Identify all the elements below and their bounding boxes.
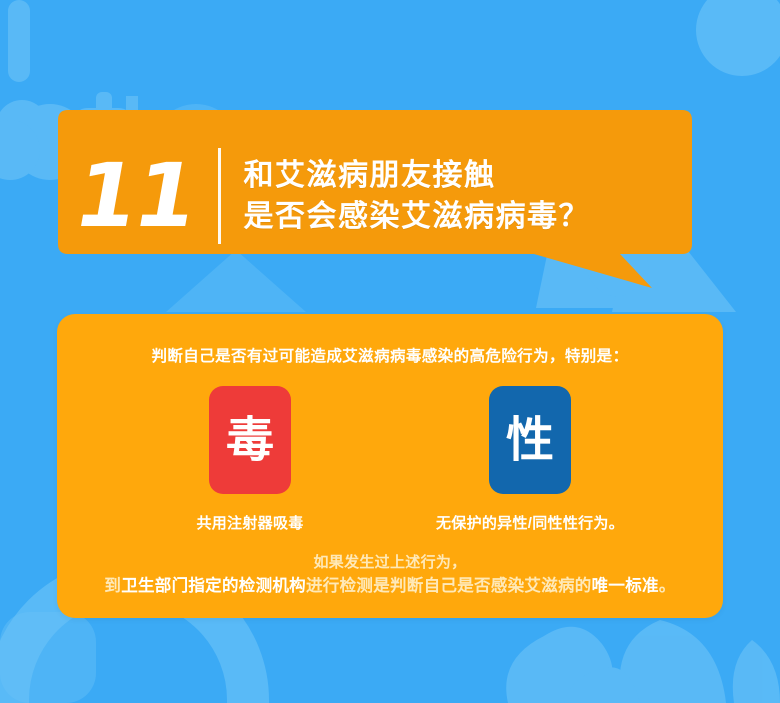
- drug-card-label: 共用注射器吸毒: [196, 512, 303, 533]
- sex-glyph: 性: [506, 416, 554, 464]
- banner-divider: [218, 148, 221, 244]
- sex-card-label: 无保护的异性/同性性行为。: [436, 512, 624, 533]
- footer-seg-1: 到: [104, 577, 121, 595]
- banner-number: 11: [58, 152, 222, 240]
- drug-glyph: 毒: [226, 416, 274, 464]
- banner-title-lines: 和艾滋病朋友接触 是否会感染艾滋病病毒？: [243, 159, 590, 233]
- drug-card-tile: 毒: [209, 386, 291, 494]
- risk-card-sex[interactable]: 性 无保护的异性/同性性行为。: [450, 386, 610, 533]
- footer-seg-4-emphasis: 唯一标准: [592, 577, 659, 595]
- risk-card-drug[interactable]: 毒 共用注射器吸毒: [170, 386, 330, 533]
- panel-intro-text: 判断自己是否有过可能造成艾滋病病毒感染的高危险行为，特别是：: [57, 344, 723, 366]
- footer-seg-2-emphasis: 卫生部门指定的检测机构: [121, 577, 306, 595]
- header-banner: 11 和艾滋病朋友接触 是否会感染艾滋病病毒？: [0, 96, 780, 296]
- banner-title-line-2: 是否会感染艾滋病病毒？: [243, 200, 590, 234]
- content-panel: 判断自己是否有过可能造成艾滋病病毒感染的高危险行为，特别是： 毒 共用注射器吸毒…: [57, 314, 723, 618]
- footer-seg-3: 进行检测是判断自己是否感染艾滋病的: [306, 577, 592, 595]
- footer-line-2: 到卫生部门指定的检测机构进行检测是判断自己是否感染艾滋病的唯一标准。: [57, 574, 723, 600]
- footer-line-1: 如果发生过上述行为，: [57, 551, 723, 574]
- footer-seg-5: 。: [659, 577, 676, 595]
- sex-card-tile: 性: [489, 386, 571, 494]
- infographic-canvas: 11 和艾滋病朋友接触 是否会感染艾滋病病毒？ 判断自己是否有过可能造成艾滋病病…: [0, 0, 780, 703]
- banner-title-line-1: 和艾滋病朋友接触: [243, 159, 590, 193]
- banner-content: 11 和艾滋病朋友接触 是否会感染艾滋病病毒？: [66, 132, 666, 260]
- panel-footer: 如果发生过上述行为， 到卫生部门指定的检测机构进行检测是判断自己是否感染艾滋病的…: [57, 551, 723, 600]
- risk-cards: 毒 共用注射器吸毒 性 无保护的异性/同性性行为。: [57, 386, 723, 533]
